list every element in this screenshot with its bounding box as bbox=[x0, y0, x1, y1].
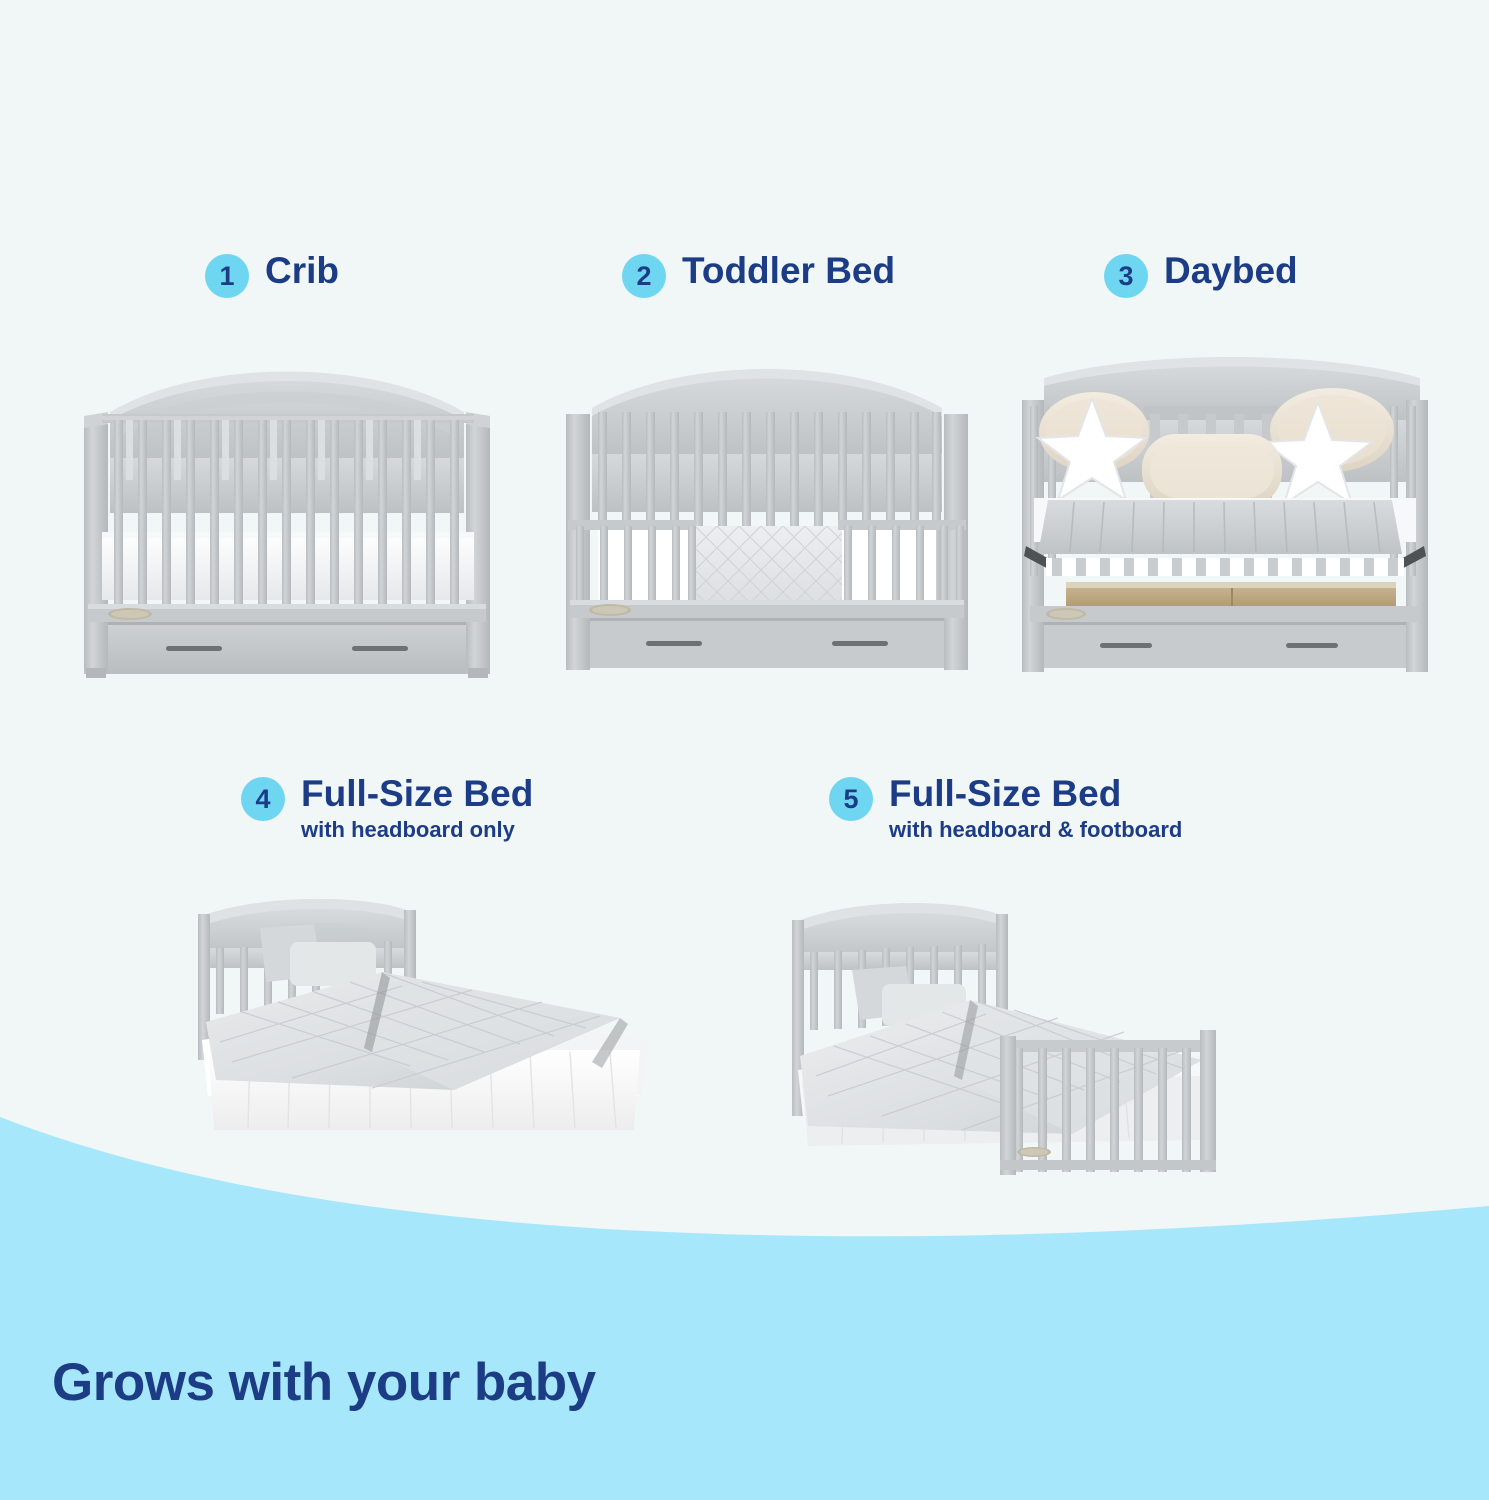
step-title-5: Full-Size Bed bbox=[889, 775, 1182, 812]
full-size-bed-headboard-footboard-illustration bbox=[772, 890, 1292, 1175]
step-subtitle-5: with headboard & footboard bbox=[889, 817, 1182, 842]
daybed-illustration bbox=[1022, 350, 1452, 680]
step-badge-1: 1 bbox=[205, 254, 249, 298]
step-text-5: Full-Size Bed with headboard & footboard bbox=[889, 775, 1182, 842]
step-text-2: Toddler Bed bbox=[682, 252, 895, 289]
step-label-5: 5 Full-Size Bed with headboard & footboa… bbox=[829, 775, 1182, 842]
step-label-1: 1 Crib bbox=[205, 252, 339, 298]
crib-illustration bbox=[62, 350, 512, 680]
step-subtitle-4: with headboard only bbox=[301, 817, 533, 842]
step-label-3: 3 Daybed bbox=[1104, 252, 1298, 298]
step-label-2: 2 Toddler Bed bbox=[622, 252, 895, 298]
toddler-bed-illustration bbox=[552, 350, 992, 680]
step-title-2: Toddler Bed bbox=[682, 252, 895, 289]
step-title-1: Crib bbox=[265, 252, 339, 289]
step-title-3: Daybed bbox=[1164, 252, 1298, 289]
step-badge-3: 3 bbox=[1104, 254, 1148, 298]
step-badge-5: 5 bbox=[829, 777, 873, 821]
step-badge-4: 4 bbox=[241, 777, 285, 821]
infographic-stage: Grows with your baby 1 Crib 2 Toddler Be… bbox=[0, 0, 1489, 1500]
full-size-bed-headboard-illustration bbox=[172, 890, 692, 1155]
step-badge-2: 2 bbox=[622, 254, 666, 298]
footer-headline: Grows with your baby bbox=[52, 1352, 596, 1413]
step-text-4: Full-Size Bed with headboard only bbox=[301, 775, 533, 842]
step-text-1: Crib bbox=[265, 252, 339, 289]
step-title-4: Full-Size Bed bbox=[301, 775, 533, 812]
step-text-3: Daybed bbox=[1164, 252, 1298, 289]
step-label-4: 4 Full-Size Bed with headboard only bbox=[241, 775, 533, 842]
